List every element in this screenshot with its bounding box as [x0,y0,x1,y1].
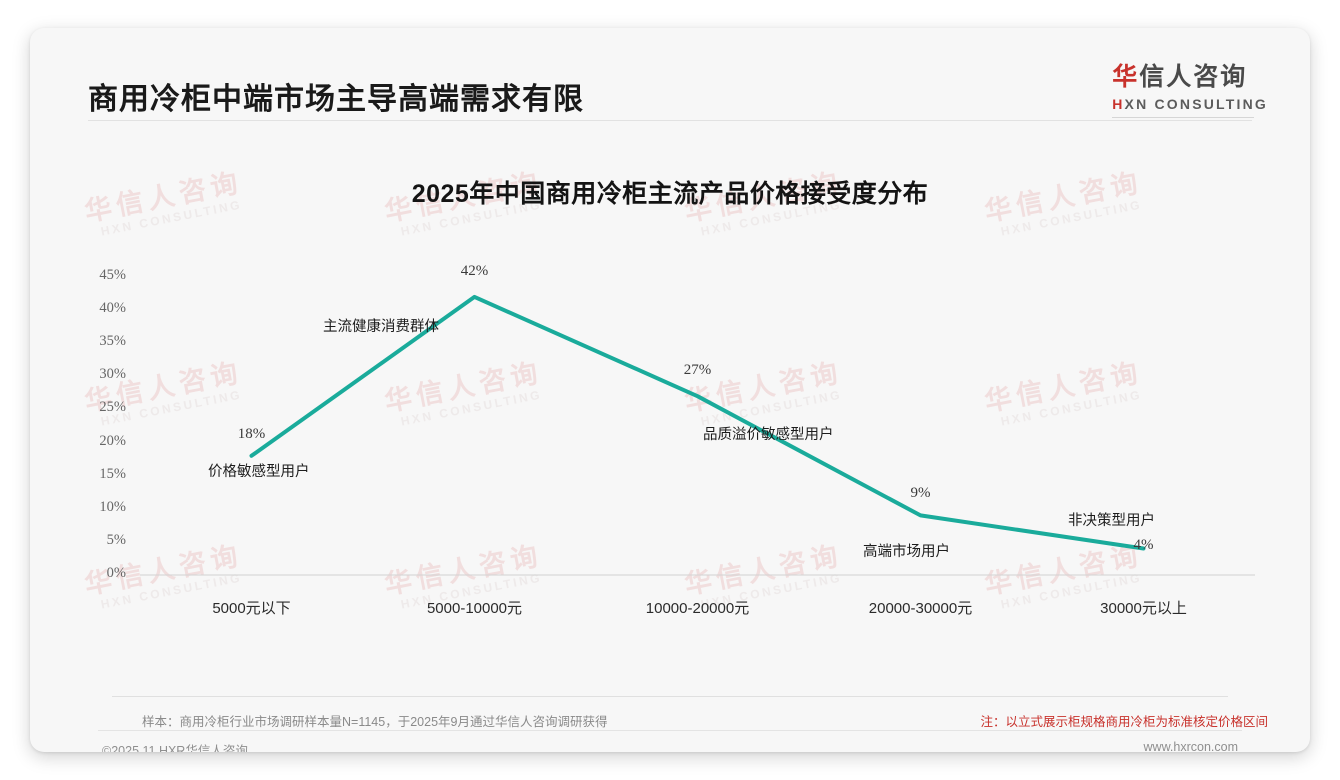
x-axis-tick: 30000元以上 [1034,597,1254,618]
logo-en-first-char: H [1112,96,1124,112]
red-note: 注：以立式展示柜规格商用冷柜为标准核定价格区间 [980,711,1268,730]
data-label: 42% [425,263,525,280]
sample-note: 样本：商用冷柜行业市场调研样本量N=1145，于2025年9月通过华信人咨询调研… [142,711,607,730]
x-axis-tick: 20000-30000元 [811,597,1031,618]
annotation-label: 非决策型用户 [1068,509,1155,530]
company-logo: 华信人咨询 HXN CONSULTING [1112,64,1268,118]
y-axis-tick: 0% [72,565,126,582]
logo-cn-first-char: 华 [1112,63,1139,91]
logo-english: HXN CONSULTING [1112,96,1268,112]
slide-footer: ©2025.11 HXR华信人咨询 www.hxrcon.com [30,730,1310,752]
website-link[interactable]: www.hxrcon.com [1144,740,1238,752]
y-axis-tick: 35% [72,333,126,350]
y-axis-tick: 15% [72,466,126,483]
data-label: 9% [871,485,971,502]
data-label: 4% [1094,537,1194,554]
annotation-label: 主流健康消费群体 [323,315,439,336]
y-axis-tick: 40% [72,300,126,317]
annotation-label: 品质溢价敏感型用户 [703,423,834,444]
y-axis-tick: 30% [72,366,126,383]
y-axis-tick: 45% [72,267,126,284]
line-chart-svg [30,28,1310,752]
logo-en-rest: XN CONSULTING [1125,96,1268,112]
footer-divider [112,696,1228,697]
y-axis-tick: 10% [72,499,126,516]
x-axis-tick: 5000元以下 [142,597,362,618]
slide-header: 商用冷柜中端市场主导高端需求有限 华信人咨询 HXN CONSULTING [30,28,1310,124]
x-axis-tick: 5000-10000元 [365,597,585,618]
page-title: 商用冷柜中端市场主导高端需求有限 [88,74,584,118]
copyright-text: ©2025.11 HXR华信人咨询 [102,740,248,752]
slide-canvas: 华信人咨询 HXN CONSULTING 华信人咨询 HXN CONSULTIN… [30,28,1310,752]
logo-underline [1112,117,1254,118]
chart-title: 2025年中国商用冷柜主流产品价格接受度分布 [30,174,1310,210]
header-divider [88,120,1252,121]
data-label: 18% [202,426,302,443]
bottom-divider [98,730,1242,731]
y-axis-tick: 5% [72,532,126,549]
data-label: 27% [648,362,748,379]
annotation-label: 高端市场用户 [863,540,950,561]
logo-chinese: 华信人咨询 [1112,64,1268,92]
y-axis-tick: 25% [72,399,126,416]
x-axis-tick: 10000-20000元 [588,597,808,618]
chart-container: 0% 5% 10% 15% 20% 25% 30% 35% 40% 45% 50… [30,28,1310,752]
annotation-label: 价格敏感型用户 [208,460,310,481]
logo-cn-rest: 信人咨询 [1139,63,1247,91]
y-axis-tick: 20% [72,433,126,450]
